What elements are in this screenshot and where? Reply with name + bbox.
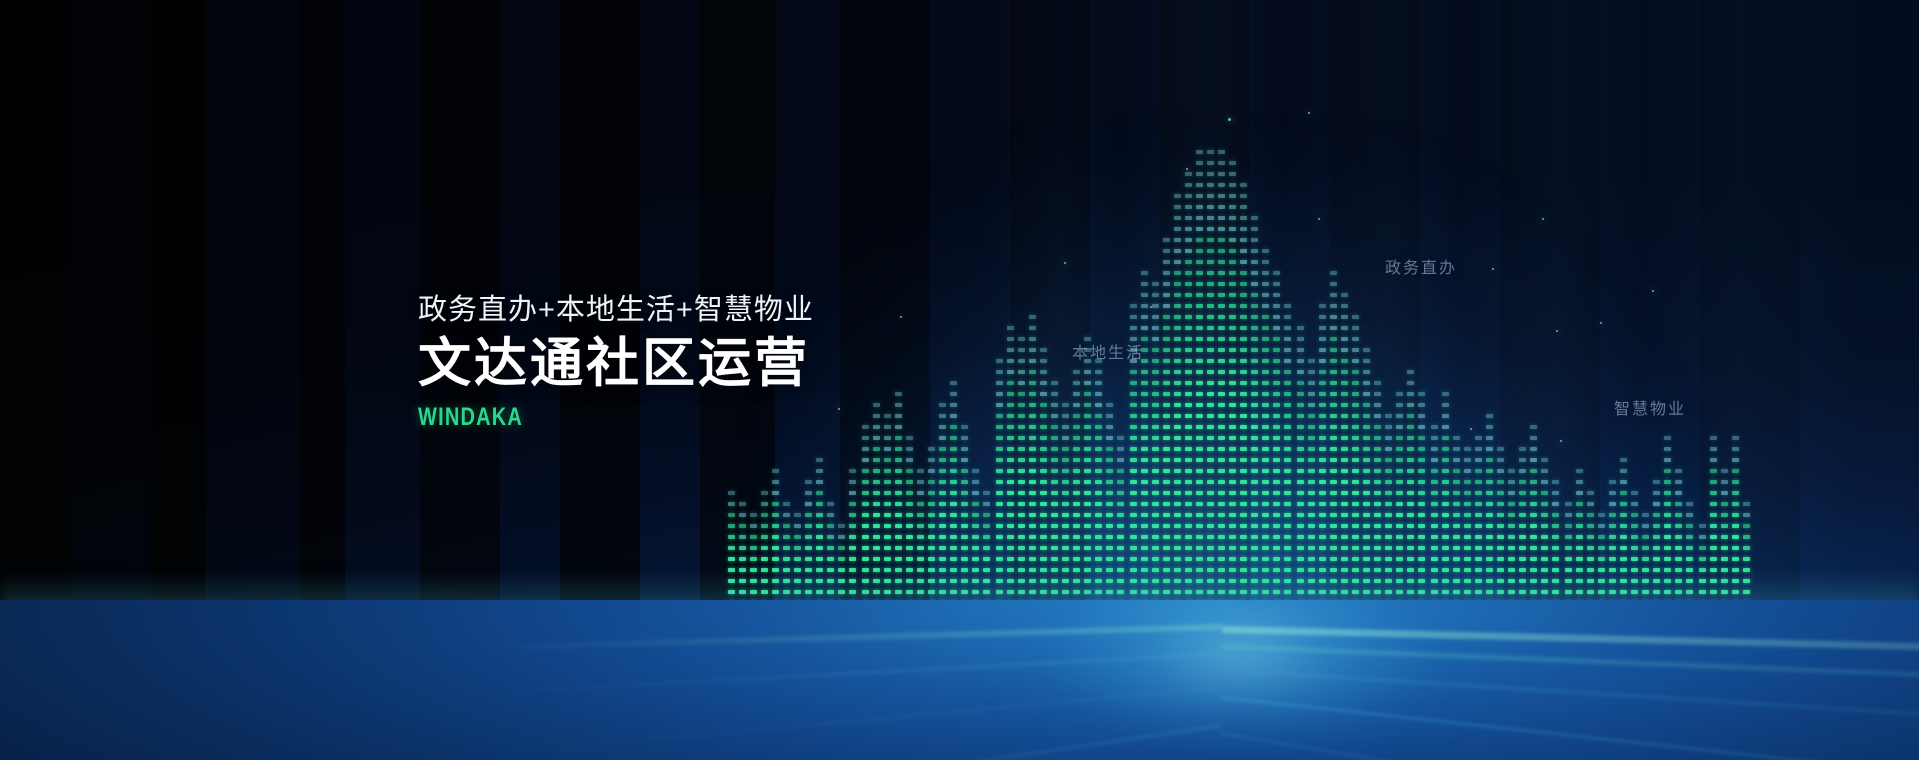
building-dot: [1587, 513, 1594, 517]
building-dot: [1552, 502, 1559, 506]
building-dot: [827, 535, 834, 539]
building-dot: [1174, 216, 1181, 220]
building-dot: [1062, 447, 1069, 451]
building-dot: [1262, 425, 1269, 429]
building-dot: [1185, 491, 1192, 495]
building-dot: [1341, 524, 1348, 528]
building-dot: [1732, 557, 1739, 561]
building-dot: [1174, 392, 1181, 396]
building-dot: [1453, 480, 1460, 484]
building-dot: [1029, 524, 1036, 528]
building-dot: [1163, 480, 1170, 484]
building-dot: [1095, 513, 1102, 517]
building-dot: [1196, 238, 1203, 242]
building-dot: [1229, 502, 1236, 506]
building-dot: [1117, 513, 1124, 517]
building-dot: [1374, 557, 1381, 561]
building-dot: [917, 546, 924, 550]
building-dot: [1029, 315, 1036, 319]
building-dot: [1095, 447, 1102, 451]
building-dot: [1587, 524, 1594, 528]
building-dot: [1174, 557, 1181, 561]
building-dot: [873, 436, 880, 440]
building-dot: [1699, 557, 1706, 561]
building-dot: [1207, 425, 1214, 429]
building-dot: [1541, 513, 1548, 517]
building-dot: [1352, 359, 1359, 363]
building-dot: [1486, 513, 1493, 517]
building-dot: [1732, 513, 1739, 517]
brand-wordmark: WINDAKA: [418, 403, 866, 432]
building-dot: [1631, 502, 1638, 506]
building-dot: [1273, 326, 1280, 330]
building-dot: [1732, 535, 1739, 539]
building-dot: [1218, 557, 1225, 561]
building-dot: [1442, 491, 1449, 495]
building-dot: [1229, 436, 1236, 440]
building-dot: [1174, 491, 1181, 495]
building-dot: [1163, 271, 1170, 275]
building-dot: [1251, 414, 1258, 418]
building-dot: [1530, 502, 1537, 506]
building-dot: [1163, 282, 1170, 286]
building-dot: [1352, 469, 1359, 473]
building-dot: [1319, 458, 1326, 462]
building-dot: [884, 546, 891, 550]
building-dot: [1106, 535, 1113, 539]
building-dot: [1552, 480, 1559, 484]
building-dot: [961, 458, 968, 462]
building-dot: [1196, 557, 1203, 561]
building-dot: [1431, 458, 1438, 462]
building-dot: [1141, 535, 1148, 539]
building-dot: [1073, 546, 1080, 550]
building-dot: [1207, 524, 1214, 528]
building-dot: [1308, 381, 1315, 385]
building-dot: [1207, 502, 1214, 506]
building-dot: [950, 469, 957, 473]
building-dot: [996, 524, 1003, 528]
building-dot: [1631, 557, 1638, 561]
building-dot: [739, 535, 746, 539]
building-dot: [1240, 227, 1247, 231]
building-dot: [1218, 172, 1225, 176]
building-dot: [996, 359, 1003, 363]
building-dot: [1341, 546, 1348, 550]
building-dot: [1686, 502, 1693, 506]
building-dot: [1319, 480, 1326, 484]
building-dot: [1141, 491, 1148, 495]
building-dot: [1407, 491, 1414, 495]
building-dot: [1453, 458, 1460, 462]
building-dot: [1308, 425, 1315, 429]
building-dot: [1475, 458, 1482, 462]
building-dot: [1196, 172, 1203, 176]
building-dot: [1163, 337, 1170, 341]
building-dot: [1284, 326, 1291, 330]
building-dot: [906, 546, 913, 550]
building-dot: [1721, 557, 1728, 561]
building-dot: [1018, 469, 1025, 473]
building-dot: [816, 557, 823, 561]
building-dot: [1284, 337, 1291, 341]
building-dot: [1130, 392, 1137, 396]
building-dot: [1396, 469, 1403, 473]
building-dot: [827, 502, 834, 506]
building-dot: [1273, 359, 1280, 363]
building-dot: [1297, 480, 1304, 484]
building-dot: [862, 469, 869, 473]
building-dot: [1262, 249, 1269, 253]
building-dot: [1163, 326, 1170, 330]
building-dot: [1653, 557, 1660, 561]
building-dot: [1341, 381, 1348, 385]
building-dot: [1743, 557, 1750, 561]
building-dot: [917, 502, 924, 506]
sparkle-dot: [1308, 112, 1310, 114]
building-dot: [1185, 315, 1192, 319]
building-dot: [1284, 469, 1291, 473]
building-dot: [862, 436, 869, 440]
building-dot: [1251, 348, 1258, 352]
building-dot: [1073, 535, 1080, 539]
building-dot: [1185, 392, 1192, 396]
building-dot: [1576, 513, 1583, 517]
building-dot: [1196, 293, 1203, 297]
building-dot: [1084, 546, 1091, 550]
building-dot: [1196, 502, 1203, 506]
building-dot: [950, 458, 957, 462]
building-dot: [772, 535, 779, 539]
building-dot: [1218, 150, 1225, 154]
building-dot: [1308, 502, 1315, 506]
building-dot: [1396, 524, 1403, 528]
building-dot: [1106, 546, 1113, 550]
building-dot: [1418, 414, 1425, 418]
building-dot: [1196, 469, 1203, 473]
building-dot: [1721, 469, 1728, 473]
building-dot: [1251, 249, 1258, 253]
building-dot: [1207, 491, 1214, 495]
building-dot: [1196, 392, 1203, 396]
building-dot: [1330, 546, 1337, 550]
building-dot: [1262, 546, 1269, 550]
building-dot: [1341, 337, 1348, 341]
building-dot: [1308, 535, 1315, 539]
building-dot: [1273, 414, 1280, 418]
building-dot: [1240, 271, 1247, 275]
building-dot: [1152, 370, 1159, 374]
building-dot: [1273, 304, 1280, 308]
building-dot: [1185, 282, 1192, 286]
building-dot: [1196, 337, 1203, 341]
building-dot: [827, 557, 834, 561]
banner-title: 文达通社区运营: [418, 335, 978, 393]
building-dot: [1297, 513, 1304, 517]
building-dot: [1587, 535, 1594, 539]
building-dot: [1040, 458, 1047, 462]
building-dot: [1240, 293, 1247, 297]
building-dot: [1273, 436, 1280, 440]
building-dot: [1732, 458, 1739, 462]
building-dot: [1229, 403, 1236, 407]
building-dot: [1541, 557, 1548, 561]
building-dot: [1084, 403, 1091, 407]
building-dot: [1565, 535, 1572, 539]
building-column: [1007, 326, 1014, 612]
building-dot: [1029, 381, 1036, 385]
building-dot: [1152, 557, 1159, 561]
building-dot: [1273, 491, 1280, 495]
building-dot: [1062, 557, 1069, 561]
building-dot: [1240, 447, 1247, 451]
building-dot: [1229, 447, 1236, 451]
building-dot: [1106, 502, 1113, 506]
building-dot: [1229, 469, 1236, 473]
building-dot: [1218, 502, 1225, 506]
building-dot: [884, 469, 891, 473]
building-dot: [1664, 458, 1671, 462]
building-dot: [1130, 546, 1137, 550]
building-dot: [1418, 513, 1425, 517]
building-dot: [1229, 260, 1236, 264]
building-dot: [1018, 447, 1025, 451]
building-dot: [1732, 480, 1739, 484]
building-dot: [1587, 546, 1594, 550]
building-dot: [1396, 403, 1403, 407]
building-dot: [928, 480, 935, 484]
building-dot: [1007, 469, 1014, 473]
building-dot: [1330, 381, 1337, 385]
building-dot: [1185, 513, 1192, 517]
building-dot: [950, 557, 957, 561]
building-dot: [1130, 557, 1137, 561]
building-dot: [1262, 381, 1269, 385]
building-dot: [1062, 480, 1069, 484]
building-dot: [1141, 282, 1148, 286]
building-dot: [1029, 502, 1036, 506]
building-dot: [996, 414, 1003, 418]
building-dot: [1363, 403, 1370, 407]
building-dot: [1196, 282, 1203, 286]
building-dot: [1218, 513, 1225, 517]
building-dot: [1251, 359, 1258, 363]
building-dot: [1062, 414, 1069, 418]
building-dot: [1330, 535, 1337, 539]
building-dot: [1196, 524, 1203, 528]
building-dot: [1273, 271, 1280, 275]
building-dot: [794, 513, 801, 517]
building-dot: [1018, 392, 1025, 396]
building-dot: [1229, 348, 1236, 352]
building-dot: [917, 480, 924, 484]
building-dot: [1163, 447, 1170, 451]
building-dot: [1308, 513, 1315, 517]
building-dot: [1240, 524, 1247, 528]
building-dot: [996, 436, 1003, 440]
building-dot: [1084, 381, 1091, 385]
building-dot: [1141, 458, 1148, 462]
building-dot: [1273, 370, 1280, 374]
building-dot: [1418, 557, 1425, 561]
building-dot: [1363, 425, 1370, 429]
building-dot: [884, 557, 891, 561]
building-dot: [1106, 458, 1113, 462]
building-dot: [1207, 392, 1214, 396]
building-dot: [972, 513, 979, 517]
building-dot: [1051, 458, 1058, 462]
building-dot: [1106, 491, 1113, 495]
building-dot: [1018, 370, 1025, 374]
building-dot: [1084, 491, 1091, 495]
building-dot: [1664, 502, 1671, 506]
building-dot: [928, 491, 935, 495]
building-dot: [862, 535, 869, 539]
building-dot: [1519, 480, 1526, 484]
building-column: [1185, 172, 1192, 612]
building-dot: [1240, 216, 1247, 220]
building-dot: [1598, 546, 1605, 550]
building-dot: [1330, 414, 1337, 418]
building-dot: [1497, 513, 1504, 517]
building-dot: [1106, 414, 1113, 418]
building-dot: [1431, 491, 1438, 495]
building-dot: [772, 491, 779, 495]
building-dot: [1185, 183, 1192, 187]
building-dot: [1385, 480, 1392, 484]
building-dot: [895, 469, 902, 473]
building-dot: [1363, 546, 1370, 550]
building-dot: [1040, 403, 1047, 407]
building-dot: [1710, 469, 1717, 473]
building-dot: [1152, 425, 1159, 429]
building-dot: [1029, 359, 1036, 363]
building-dot: [1240, 304, 1247, 308]
building-dot: [772, 469, 779, 473]
building-dot: [1163, 414, 1170, 418]
building-dot: [1385, 557, 1392, 561]
building-dot: [1106, 403, 1113, 407]
building-dot: [1262, 436, 1269, 440]
building-dot: [1284, 546, 1291, 550]
building-dot: [996, 403, 1003, 407]
building-dot: [1185, 480, 1192, 484]
building-dot: [1073, 524, 1080, 528]
building-dot: [1385, 513, 1392, 517]
building-dot: [1273, 337, 1280, 341]
building-dot: [1396, 491, 1403, 495]
building-dot: [873, 513, 880, 517]
building-dot: [1251, 447, 1258, 451]
building-dot: [816, 491, 823, 495]
building-dot: [1576, 557, 1583, 561]
building-dot: [1007, 458, 1014, 462]
building-dot: [1095, 535, 1102, 539]
building-dot: [1273, 524, 1280, 528]
building-dot: [1620, 524, 1627, 528]
building-dot: [1240, 315, 1247, 319]
building-column: [1163, 238, 1170, 612]
building-dot: [783, 524, 790, 528]
building-dot: [1530, 436, 1537, 440]
building-dot: [1352, 535, 1359, 539]
building-dot: [1330, 425, 1337, 429]
building-dot: [928, 546, 935, 550]
building-dot: [1308, 370, 1315, 374]
building-dot: [1732, 491, 1739, 495]
building-dot: [1396, 546, 1403, 550]
building-dot: [1106, 557, 1113, 561]
building-dot: [1341, 315, 1348, 319]
building-dot: [1207, 161, 1214, 165]
building-dot: [1218, 282, 1225, 286]
building-dot: [1007, 381, 1014, 385]
building-dot: [805, 524, 812, 528]
building-dot: [1251, 469, 1258, 473]
building-dot: [1207, 326, 1214, 330]
building-dot: [1642, 513, 1649, 517]
building-dot: [1262, 491, 1269, 495]
building-dot: [1431, 513, 1438, 517]
building-dot: [1207, 238, 1214, 242]
building-dot: [1062, 425, 1069, 429]
building-dot: [1297, 326, 1304, 330]
building-dot: [873, 535, 880, 539]
building-dot: [1609, 557, 1616, 561]
building-dot: [1095, 381, 1102, 385]
building-dot: [1029, 425, 1036, 429]
building-dot: [1686, 557, 1693, 561]
building-dot: [1262, 469, 1269, 473]
building-dot: [895, 557, 902, 561]
building-dot: [1141, 425, 1148, 429]
building-dot: [1374, 491, 1381, 495]
building-dot: [1018, 524, 1025, 528]
building-dot: [1407, 557, 1414, 561]
building-dot: [1475, 502, 1482, 506]
building-dot: [1262, 348, 1269, 352]
sparkle-dot: [1150, 306, 1152, 308]
building-dot: [1431, 469, 1438, 473]
building-dot: [1341, 392, 1348, 396]
building-dot: [1284, 403, 1291, 407]
building-dot: [1185, 348, 1192, 352]
building-dot: [1029, 392, 1036, 396]
building-dot: [1319, 359, 1326, 363]
building-dot: [1095, 392, 1102, 396]
building-dot: [1664, 513, 1671, 517]
building-dot: [1174, 436, 1181, 440]
building-dot: [1262, 458, 1269, 462]
building-dot: [1251, 524, 1258, 528]
building-dot: [1007, 370, 1014, 374]
building-dot: [961, 535, 968, 539]
building-dot: [761, 524, 768, 528]
building-dot: [1240, 546, 1247, 550]
building-dot: [961, 469, 968, 473]
building-dot: [1284, 436, 1291, 440]
building-dot: [1675, 491, 1682, 495]
building-dot: [1576, 524, 1583, 528]
building-dot: [906, 535, 913, 539]
building-dot: [1141, 436, 1148, 440]
building-dot: [996, 546, 1003, 550]
building-column: [1174, 194, 1181, 612]
building-dot: [1185, 425, 1192, 429]
building-dot: [1174, 304, 1181, 308]
building-dot: [1240, 535, 1247, 539]
building-dot: [1721, 502, 1728, 506]
